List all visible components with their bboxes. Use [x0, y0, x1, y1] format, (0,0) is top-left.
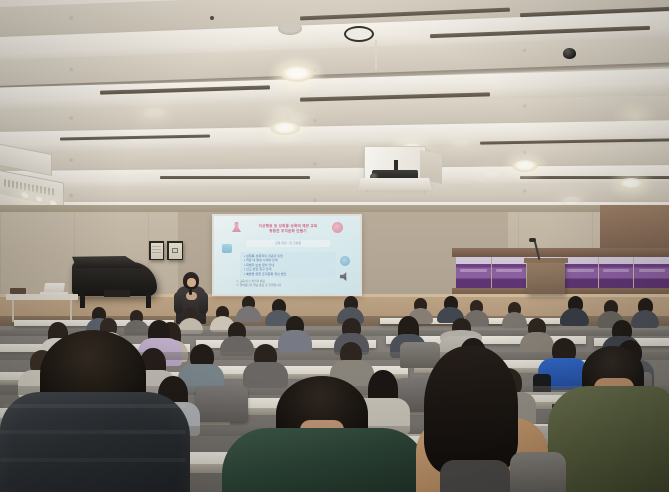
- attendee-head: [424, 346, 518, 474]
- downlight-4: [512, 160, 538, 172]
- ceiling: [0, 0, 669, 232]
- handheld-microphone-icon: [189, 288, 192, 295]
- ceiling-sensor-icon: [210, 16, 214, 20]
- downlight-7: [286, 112, 312, 124]
- chair-back[interactable]: [440, 460, 510, 492]
- piano-bench: [104, 290, 130, 297]
- lectern-top: [524, 258, 568, 263]
- downlight-2: [270, 122, 300, 135]
- attendee-body: [548, 386, 669, 492]
- downlight-6: [140, 107, 168, 120]
- downlight-glow-2: [612, 100, 658, 132]
- downlight-5: [618, 178, 644, 189]
- slide-bullet: ▪ 예방을 위한 조직문화 개선 방안: [244, 272, 332, 276]
- ceiling-slot-i: [160, 176, 310, 179]
- attendee-body: [222, 428, 428, 492]
- framed-certificate-left: [149, 241, 164, 260]
- downlight-8: [448, 138, 474, 149]
- slide-footer: ※ 교육 이수 확인서 배포 ※ 질의응답은 발표 종료 후 진행합니다: [236, 280, 340, 288]
- presenter-arm-left: [174, 292, 183, 314]
- ceiling-drop-rod: [375, 40, 377, 70]
- microphone-icon: [529, 238, 536, 242]
- poster-6: [634, 257, 669, 288]
- chair[interactable]: [510, 452, 566, 492]
- attendee-body: [520, 332, 554, 354]
- attendee-body: [243, 362, 288, 388]
- desk-folder: [10, 288, 26, 294]
- attendee-body: [278, 330, 312, 352]
- chair-back: [400, 342, 440, 368]
- chair[interactable]: [196, 386, 248, 422]
- wall-wood-band: [452, 248, 669, 257]
- poster-2: [492, 257, 527, 288]
- projector-tray: [358, 178, 432, 190]
- piano-leg-1: [80, 292, 85, 308]
- puffer-seam-2: [0, 430, 186, 434]
- dome-security-camera-icon: [563, 48, 576, 59]
- table-leg-2: [70, 300, 72, 322]
- laptop-base: [40, 292, 68, 295]
- framed-certificate-right: [167, 241, 183, 260]
- ceiling-speaker-icon: [278, 22, 302, 35]
- wooden-lectern: [527, 260, 565, 294]
- table-leg-1: [12, 300, 14, 322]
- piano-leg-2: [146, 292, 151, 308]
- puffer-seam-1: [4, 404, 186, 408]
- presenter-arm-right: [199, 292, 208, 314]
- presenter-face: [187, 278, 196, 287]
- slide-title: 이상행동 및 성희롱·성폭력 예방 교육 평등한 조직문화 만들기: [228, 224, 348, 234]
- downlight-9: [480, 170, 504, 180]
- slide-title-line-2: 평등한 조직문화 만들기: [228, 229, 348, 234]
- ceiling-slot-j: [520, 176, 669, 179]
- wall-top-trim: [0, 205, 669, 212]
- puffer-seam-3: [0, 458, 186, 462]
- slide-body: ▪ 성희롱·성폭력의 개념과 유형 ▪ 직장 내 발생 사례와 판례 ▪ 피해자…: [240, 252, 336, 278]
- poster-4: [563, 257, 598, 288]
- network-nodes-icon: [222, 244, 232, 253]
- black-ring-speaker-icon: [344, 26, 374, 42]
- slide-subtitle: 교육 대상 : 전 구성원: [246, 240, 330, 247]
- poster-5: [599, 257, 634, 288]
- poster-1: [456, 257, 491, 288]
- shield-user-icon: [340, 256, 350, 266]
- wall-wood-right: [600, 205, 669, 251]
- lecture-hall-photo: 이상행동 및 성희롱·성폭력 예방 교육 평등한 조직문화 만들기 교육 대상 …: [0, 0, 669, 492]
- slide-footer-line: ※ 질의응답은 발표 종료 후 진행합니다: [236, 284, 340, 288]
- downlight-1: [280, 66, 314, 82]
